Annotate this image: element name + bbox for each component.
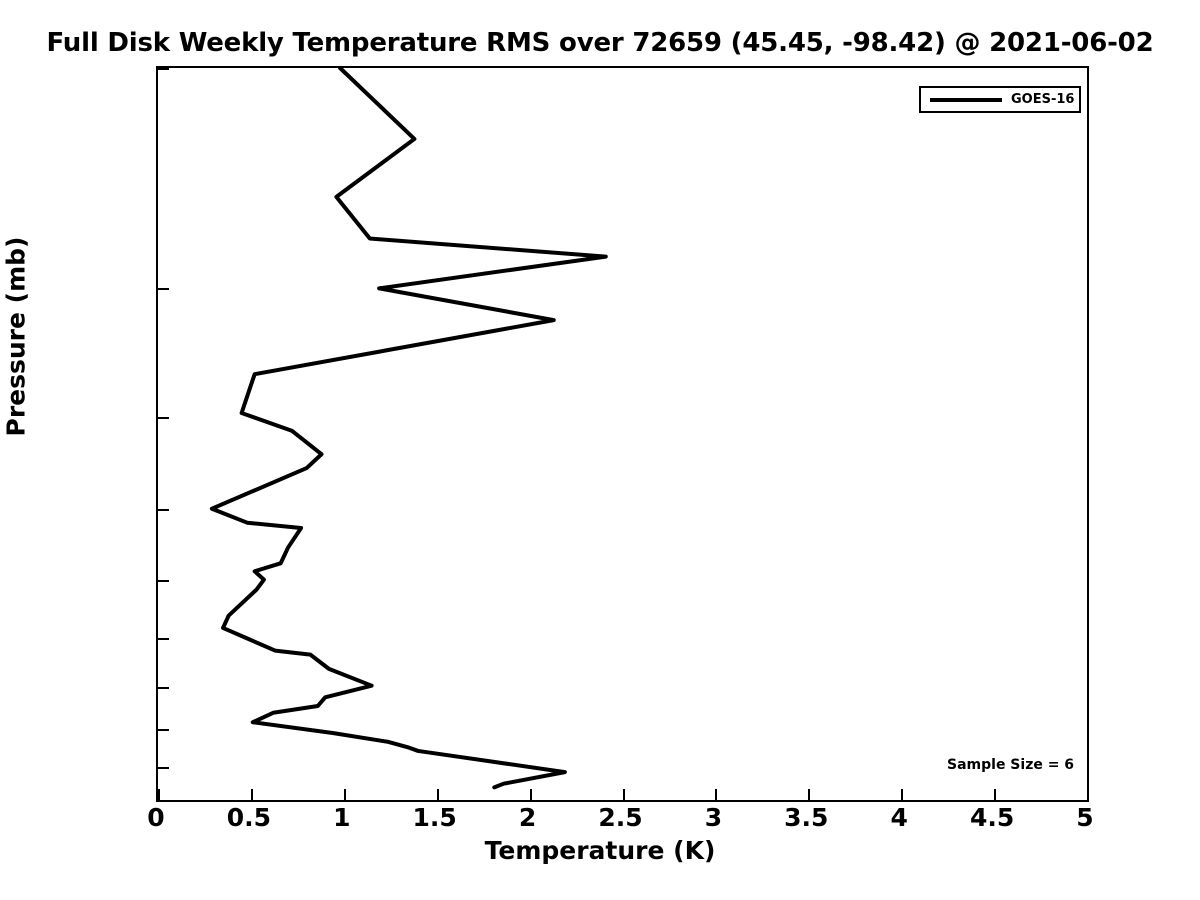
y-axis-label: Pressure (mb): [2, 127, 31, 547]
x-tick-label-1-5: 1.5: [413, 803, 457, 832]
x-axis-label: Temperature (K): [0, 836, 1200, 865]
x-tick-label-2: 2: [519, 803, 536, 832]
x-tick-label-3: 3: [705, 803, 722, 832]
y-tick-600: [158, 638, 169, 640]
y-tick-500: [158, 580, 169, 582]
x-tick-0: [158, 789, 160, 800]
y-tick-800: [158, 729, 169, 731]
x-tick-5: [1087, 789, 1089, 800]
x-tick-1: [344, 789, 346, 800]
legend-label-goes-16: GOES-16: [1011, 92, 1074, 107]
legend: GOES-16: [919, 86, 1081, 113]
x-tick-label-1: 1: [333, 803, 350, 832]
x-tick-label-0: 0: [147, 803, 164, 832]
y-tick-200: [158, 288, 169, 290]
x-tick-1-5: [437, 789, 439, 800]
chart-figure: Full Disk Weekly Temperature RMS over 72…: [0, 0, 1200, 900]
chart-title: Full Disk Weekly Temperature RMS over 72…: [0, 28, 1200, 58]
plot-area: [156, 66, 1089, 802]
x-tick-0-5: [251, 789, 253, 800]
legend-line-swatch: [930, 98, 1002, 102]
x-tick-label-0-5: 0.5: [227, 803, 271, 832]
y-tick-700: [158, 687, 169, 689]
series-goes-16-line: [158, 68, 1087, 800]
x-tick-label-4: 4: [890, 803, 907, 832]
x-tick-4-5: [994, 789, 996, 800]
x-tick-label-2-5: 2.5: [598, 803, 642, 832]
sample-size-annotation: Sample Size = 6: [947, 757, 1074, 773]
y-tick-1000: [158, 800, 169, 802]
x-tick-3: [715, 789, 717, 800]
x-tick-label-5: 5: [1076, 803, 1093, 832]
y-tick-900: [158, 767, 169, 769]
x-tick-4: [901, 789, 903, 800]
y-tick-400: [158, 509, 169, 511]
x-tick-3-5: [808, 789, 810, 800]
y-tick-100: [158, 68, 169, 70]
y-tick-300: [158, 417, 169, 419]
x-tick-2: [530, 789, 532, 800]
x-tick-label-4-5: 4.5: [970, 803, 1014, 832]
x-tick-2-5: [623, 789, 625, 800]
x-tick-label-3-5: 3.5: [784, 803, 828, 832]
